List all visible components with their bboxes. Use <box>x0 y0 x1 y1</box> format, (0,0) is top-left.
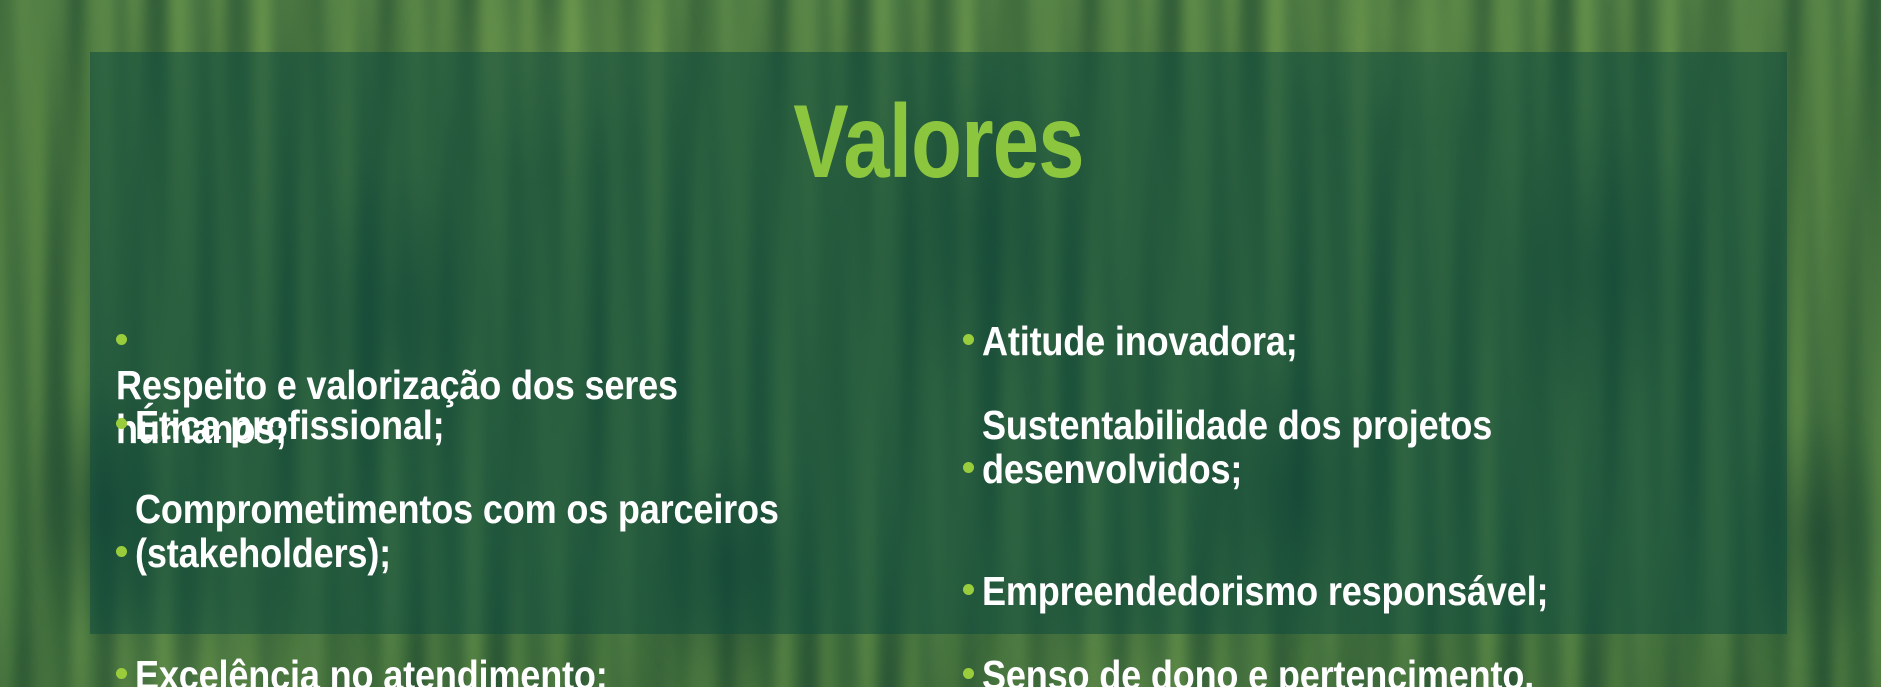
page-title: Valores <box>260 90 1618 194</box>
list-item-label: Excelência no atendimento; <box>135 654 608 687</box>
bullet-dot-icon <box>116 334 127 345</box>
list-item-label: Empreendedorismo responsável; <box>982 570 1548 614</box>
list-item: Comprometimentos com os parceiros (stake… <box>116 444 919 576</box>
list-item-label: Atitude inovadora; <box>982 320 1298 364</box>
list-item: Atitude inovadora; <box>963 276 1768 364</box>
bullet-dot-icon <box>116 418 127 429</box>
list-item: Senso de dono e pertencimento. <box>963 610 1768 687</box>
values-columns: Respeito e valorização dos seres humanos… <box>90 220 1787 634</box>
values-slide: Valores Respeito e valorização dos seres… <box>0 0 1881 687</box>
list-item: Empreendedorismo responsável; <box>963 526 1768 614</box>
bullet-dot-icon <box>116 546 127 557</box>
values-column-left: Respeito e valorização dos seres humanos… <box>90 220 939 634</box>
content-overlay-panel: Valores Respeito e valorização dos seres… <box>90 52 1787 634</box>
bullet-dot-icon <box>963 584 974 595</box>
values-column-right: Atitude inovadora; Sustentabilidade dos … <box>939 220 1788 634</box>
bullet-dot-icon <box>963 462 974 473</box>
bullet-dot-icon <box>963 334 974 345</box>
list-item: Sustentabilidade dos projetos desenvolvi… <box>963 360 1768 492</box>
list-item-label: Senso de dono e pertencimento. <box>982 654 1534 687</box>
list-item-label: Sustentabilidade dos projetos desenvolvi… <box>982 404 1492 492</box>
list-item-label: Ética profissional; <box>135 404 444 448</box>
list-item: Ética profissional; <box>116 360 919 448</box>
list-item-label: Comprometimentos com os parceiros (stake… <box>135 488 779 576</box>
list-item: Excelência no atendimento; <box>116 610 919 687</box>
content-overlay-inner: Valores Respeito e valorização dos seres… <box>90 52 1787 634</box>
bullet-dot-icon <box>963 668 974 679</box>
bullet-dot-icon <box>116 668 127 679</box>
